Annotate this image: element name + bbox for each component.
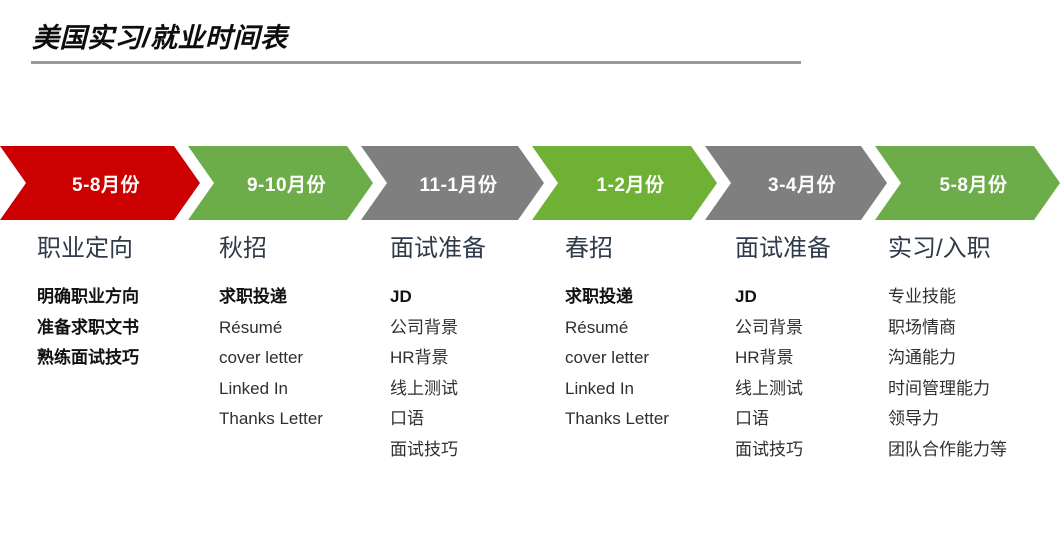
column-item-list: 明确职业方向准备求职文书熟练面试技巧	[37, 282, 139, 374]
column-item: 面试技巧	[390, 435, 486, 466]
column-item-list: 求职投递Résumécover letterLinked InThanks Le…	[565, 282, 669, 435]
column-item: 沟通能力	[888, 343, 1007, 374]
column-item: 线上测试	[390, 374, 486, 405]
column-item: 公司背景	[735, 313, 831, 344]
timeline-column-3: 面试准备JD公司背景HR背景线上测试口语面试技巧	[390, 232, 486, 465]
column-item: Linked In	[219, 374, 323, 405]
column-item: Thanks Letter	[565, 404, 669, 435]
column-heading: 面试准备	[735, 232, 831, 266]
column-heading: 春招	[565, 232, 669, 266]
column-item: HR背景	[390, 343, 486, 374]
column-item: 求职投递	[219, 282, 323, 313]
column-heading: 面试准备	[390, 232, 486, 266]
timeline-step-period-label: 1-2月份	[597, 170, 665, 197]
timeline-chevron-banner: 5-8月份9-10月份11-1月份1-2月份3-4月份5-8月份	[0, 146, 1060, 220]
column-item-list: 专业技能职场情商沟通能力时间管理能力领导力团队合作能力等	[888, 282, 1007, 465]
timeline-step-period-label: 5-8月份	[72, 170, 140, 197]
page-title: 美国实习/就业时间表	[32, 16, 288, 55]
timeline-step-period-label: 5-8月份	[940, 170, 1008, 197]
column-item: Linked In	[565, 374, 669, 405]
column-item: Résumé	[565, 313, 669, 344]
timeline-step-3[interactable]: 11-1月份	[361, 146, 544, 220]
column-item: cover letter	[219, 343, 323, 374]
column-item-list: JD公司背景HR背景线上测试口语面试技巧	[735, 282, 831, 465]
timeline-column-2: 秋招求职投递Résumécover letterLinked InThanks …	[219, 232, 323, 435]
timeline-step-period-label: 9-10月份	[247, 170, 326, 197]
column-item: 明确职业方向	[37, 282, 139, 313]
column-item: JD	[735, 282, 831, 313]
column-item: 口语	[390, 404, 486, 435]
timeline-step-5[interactable]: 3-4月份	[705, 146, 887, 220]
column-item: 准备求职文书	[37, 313, 139, 344]
column-item-list: JD公司背景HR背景线上测试口语面试技巧	[390, 282, 486, 465]
column-item: JD	[390, 282, 486, 313]
timeline-column-6: 实习/入职专业技能职场情商沟通能力时间管理能力领导力团队合作能力等	[888, 232, 1007, 465]
timeline-step-period-label: 11-1月份	[420, 170, 498, 197]
column-item: 公司背景	[390, 313, 486, 344]
timeline-column-1: 职业定向明确职业方向准备求职文书熟练面试技巧	[37, 232, 139, 374]
column-item: 职场情商	[888, 313, 1007, 344]
timeline-step-period-label: 3-4月份	[768, 170, 836, 197]
column-item: Thanks Letter	[219, 404, 323, 435]
timeline-step-4[interactable]: 1-2月份	[532, 146, 717, 220]
column-item: 熟练面试技巧	[37, 343, 139, 374]
timeline-columns: 职业定向明确职业方向准备求职文书熟练面试技巧秋招求职投递Résumécover …	[0, 232, 1060, 532]
timeline-column-5: 面试准备JD公司背景HR背景线上测试口语面试技巧	[735, 232, 831, 465]
column-item: 求职投递	[565, 282, 669, 313]
column-item: Résumé	[219, 313, 323, 344]
column-heading: 实习/入职	[888, 232, 1007, 266]
column-item: HR背景	[735, 343, 831, 374]
column-heading: 职业定向	[37, 232, 139, 266]
title-block: 美国实习/就业时间表	[0, 0, 1060, 72]
column-item: 面试技巧	[735, 435, 831, 466]
timeline-step-1[interactable]: 5-8月份	[0, 146, 200, 220]
column-item: 时间管理能力	[888, 374, 1007, 405]
column-item: 专业技能	[888, 282, 1007, 313]
title-divider-rule	[31, 61, 801, 64]
column-item: 线上测试	[735, 374, 831, 405]
column-item: 口语	[735, 404, 831, 435]
column-heading: 秋招	[219, 232, 323, 266]
column-item-list: 求职投递Résumécover letterLinked InThanks Le…	[219, 282, 323, 435]
timeline-step-2[interactable]: 9-10月份	[188, 146, 373, 220]
column-item: cover letter	[565, 343, 669, 374]
column-item: 团队合作能力等	[888, 435, 1007, 466]
timeline-column-4: 春招求职投递Résumécover letterLinked InThanks …	[565, 232, 669, 435]
column-item: 领导力	[888, 404, 1007, 435]
timeline-step-6[interactable]: 5-8月份	[875, 146, 1060, 220]
